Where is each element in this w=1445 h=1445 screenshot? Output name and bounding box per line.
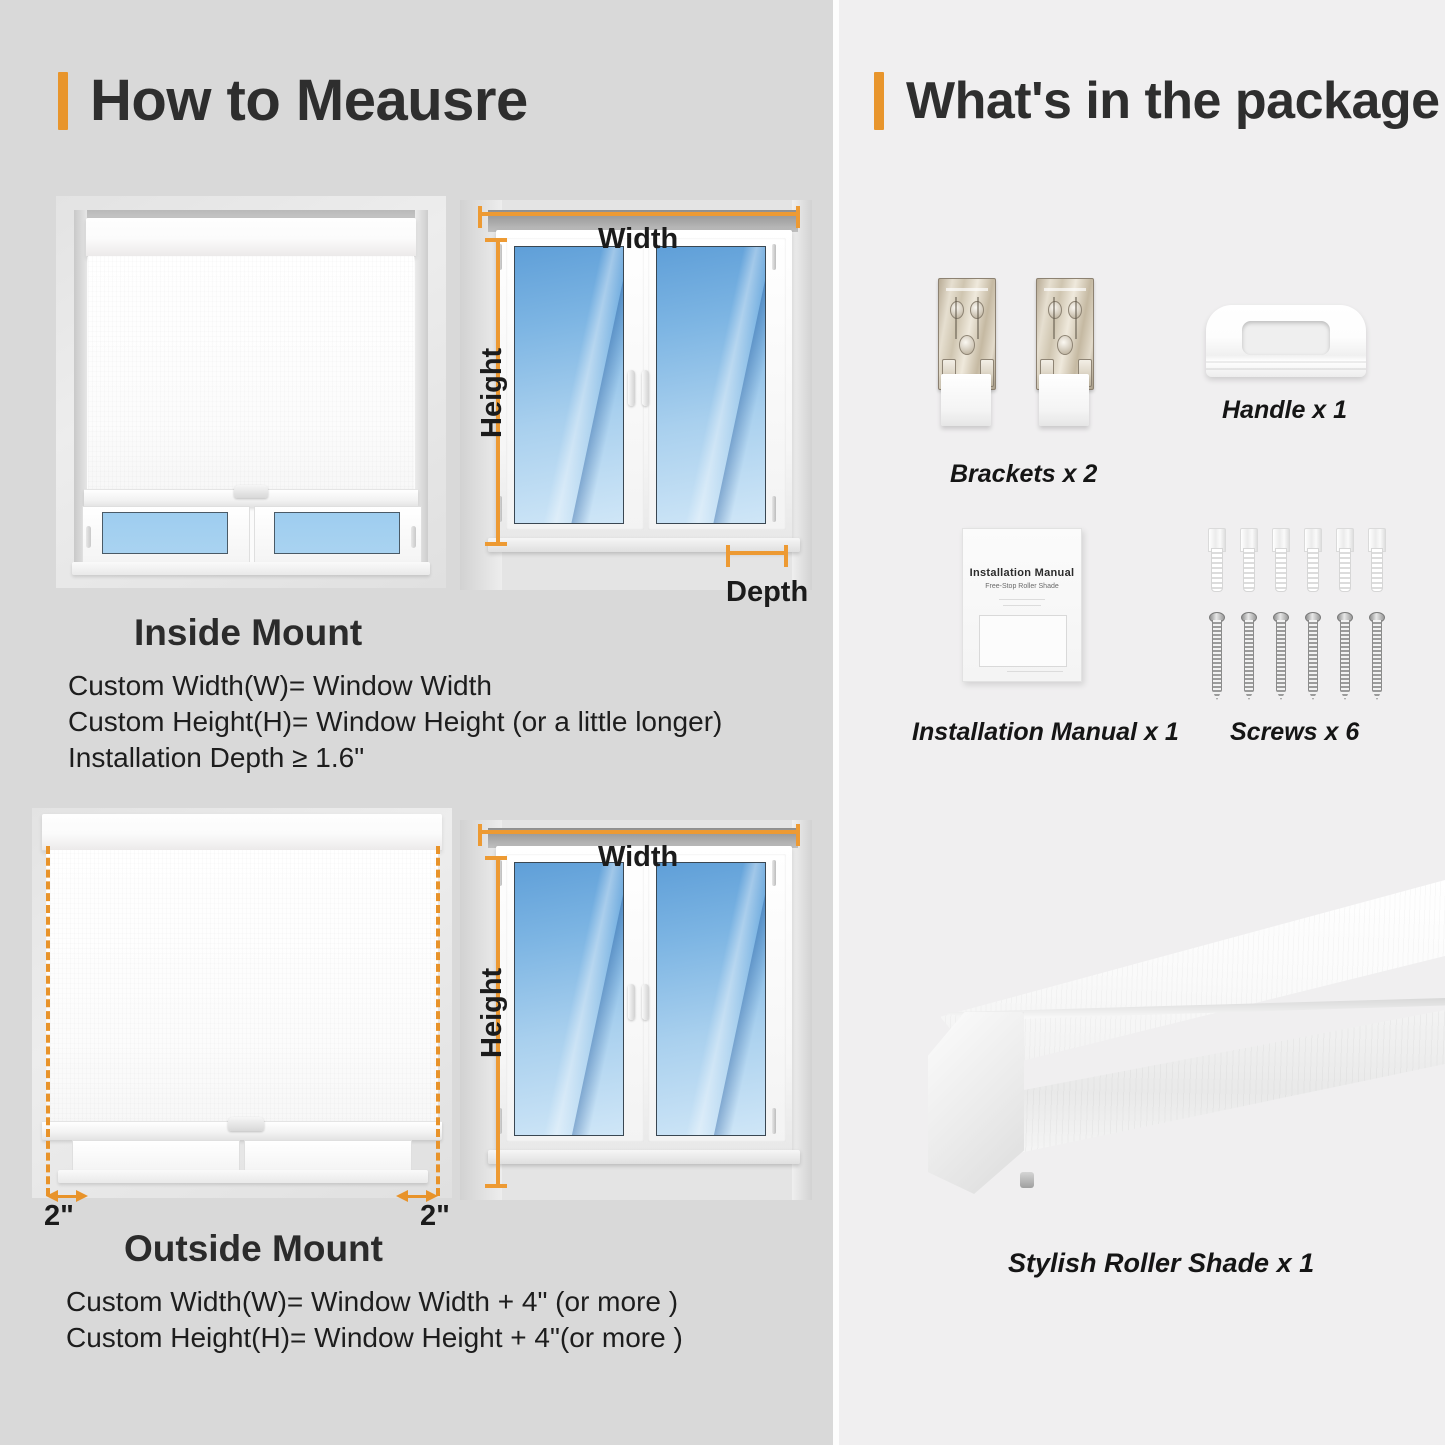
overhang-label-right: 2" — [420, 1200, 450, 1233]
width-dimension-cap-left — [478, 206, 482, 228]
screw-icon-5 — [1337, 612, 1351, 704]
height-dimension-cap-top — [485, 238, 507, 242]
handle-grip-slot — [1242, 321, 1330, 355]
roller-shade-end-cap — [928, 1012, 1024, 1194]
wall-anchor-icon-4 — [1304, 528, 1320, 590]
brackets-label: Brackets x 2 — [950, 460, 1097, 489]
package-heading: What's in the package — [874, 72, 1440, 130]
infographic-root: How to Meausre — [0, 0, 1445, 1445]
roller-shade-label: Stylish Roller Shade x 1 — [1008, 1248, 1314, 1279]
outside-window-sill — [58, 1170, 428, 1183]
overhang-label-left: 2" — [44, 1200, 74, 1233]
shade-fabric — [88, 256, 414, 492]
outside-mount-title: Outside Mount — [124, 1228, 383, 1270]
depth-dimension-cap-left — [726, 545, 730, 567]
bracket-icon-2 — [1036, 278, 1092, 428]
wall-anchor-icon-5 — [1336, 528, 1352, 590]
screw-icon-2 — [1241, 612, 1255, 704]
hinge-bottom-right — [772, 496, 776, 522]
outside-spec-height: Custom Height(H)= Window Height + 4"(or … — [66, 1322, 683, 1354]
manual-icon: Installation Manual Free-Stop Roller Sha… — [962, 528, 1082, 682]
overhang-guide-left — [46, 846, 50, 1196]
width2-cap-right — [796, 824, 800, 846]
depth-dimension-line — [726, 551, 788, 555]
width2-cap-left — [478, 824, 482, 846]
window-glass-strip — [78, 504, 424, 566]
diagram2-glass-left — [514, 862, 624, 1136]
manual-cover-figure — [979, 615, 1067, 667]
package-title: What's in the package — [906, 75, 1440, 127]
hinge2-bottom-right — [772, 1108, 776, 1134]
inside-spec-width: Custom Width(W)= Window Width — [68, 670, 492, 702]
height2-cap-bottom — [485, 1184, 507, 1188]
diagram-wall-right — [792, 200, 812, 590]
bracket-plastic-base — [941, 374, 991, 426]
diagram-sill — [488, 538, 800, 552]
manual-cover-title: Installation Manual — [963, 567, 1081, 579]
diagram2-wall-right — [792, 820, 812, 1200]
outside-sash-right — [244, 1140, 412, 1172]
outside-window-glass-strip — [68, 1138, 414, 1174]
diagram2-sill — [488, 1150, 800, 1164]
inside-spec-depth: Installation Depth ≥ 1.6" — [68, 742, 364, 774]
shade-valance — [86, 218, 416, 257]
overhang-guide-right — [436, 846, 440, 1196]
screws-label: Screws x 6 — [1230, 718, 1359, 747]
wall-anchor-icon-3 — [1272, 528, 1288, 590]
glass-pane-left — [102, 512, 228, 554]
roller-shade-icon — [900, 880, 1445, 1210]
diagram-handle-left — [628, 370, 635, 406]
roller-shade-pin — [1020, 1172, 1034, 1188]
sash-handle-left — [86, 526, 91, 548]
handle-icon — [1206, 305, 1366, 377]
width-dimension-cap-right — [796, 206, 800, 228]
screw-icon-6 — [1369, 612, 1383, 704]
diagram2-glass-right — [656, 862, 766, 1136]
sash-handle-right — [411, 526, 416, 548]
outside-sash-left — [72, 1140, 240, 1172]
height-label-bottom: Height — [476, 968, 509, 1058]
window-sill — [72, 562, 430, 575]
outside-shade-pull-handle[interactable] — [228, 1117, 264, 1131]
hinge-top-right — [772, 244, 776, 270]
outside-mount-dimension-diagram — [460, 820, 812, 1200]
diagram-handle-right — [642, 370, 649, 406]
manual-label: Installation Manual x 1 — [912, 718, 1179, 747]
inside-mount-dimension-diagram — [460, 200, 812, 590]
depth-label: Depth — [726, 576, 808, 609]
wall-anchor-icon-6 — [1368, 528, 1384, 590]
inside-mount-illustration — [56, 196, 446, 588]
screw-icon-4 — [1305, 612, 1319, 704]
width-dimension-line-top — [478, 212, 800, 216]
accent-bar-right — [874, 72, 884, 130]
height2-cap-top — [485, 856, 507, 860]
shade-pull-handle[interactable] — [234, 485, 268, 498]
height-label-top: Height — [476, 348, 509, 438]
how-to-measure-heading: How to Meausre — [58, 72, 528, 130]
how-to-measure-title: How to Meausre — [90, 72, 528, 130]
manual-cover-subtitle: Free-Stop Roller Shade — [963, 583, 1081, 590]
bracket-plastic-base-2 — [1039, 374, 1089, 426]
width-label-top: Width — [598, 223, 678, 256]
outside-shade-fabric — [46, 850, 438, 1124]
screw-icon-1 — [1209, 612, 1223, 704]
inside-mount-title: Inside Mount — [134, 612, 362, 654]
hinge2-top-right — [772, 860, 776, 886]
screw-icon-3 — [1273, 612, 1287, 704]
outside-mount-illustration — [32, 808, 452, 1198]
diagram2-handle-right — [642, 984, 649, 1020]
handle-label: Handle x 1 — [1222, 396, 1347, 425]
height-dimension-cap-bottom — [485, 542, 507, 546]
wall-anchor-icon-2 — [1240, 528, 1256, 590]
inside-spec-height: Custom Height(H)= Window Height (or a li… — [68, 706, 722, 738]
depth-dimension-cap-right — [784, 545, 788, 567]
outside-shade-valance — [42, 814, 442, 851]
outside-spec-width: Custom Width(W)= Window Width + 4" (or m… — [66, 1286, 678, 1318]
bracket-icon — [938, 278, 994, 428]
diagram-glass-right — [656, 246, 766, 524]
width2-dimension-line — [478, 830, 800, 834]
width-label-bottom: Width — [598, 841, 678, 874]
diagram-glass-left — [514, 246, 624, 524]
glass-pane-right — [274, 512, 400, 554]
diagram2-handle-left — [628, 984, 635, 1020]
wall-anchor-icon-1 — [1208, 528, 1224, 590]
accent-bar-left — [58, 72, 68, 130]
